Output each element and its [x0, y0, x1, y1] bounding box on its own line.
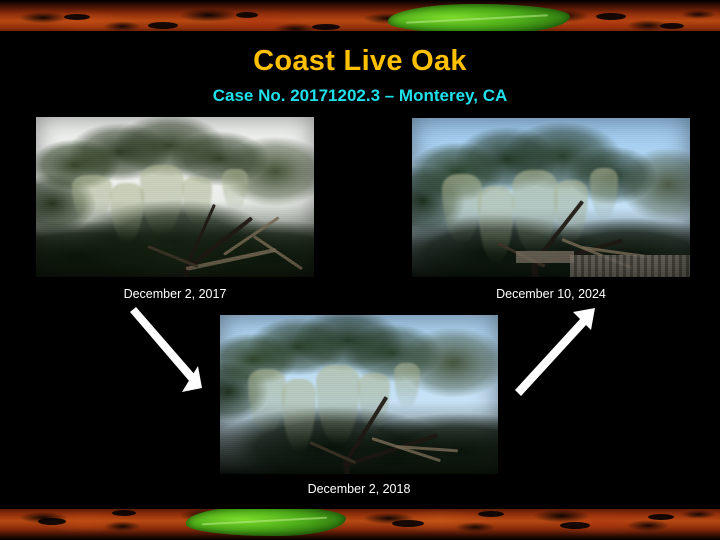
photo-december-2-2018[interactable] [220, 315, 498, 474]
photo-caption-2018: December 2, 2018 [220, 481, 498, 497]
arrow-2017-to-2018-icon [120, 300, 216, 400]
top-leaf-border [0, 0, 720, 40]
leaf-speck [112, 510, 136, 516]
border-fade [0, 31, 720, 40]
leaf-speck [64, 14, 90, 20]
rooftop [516, 251, 574, 263]
leaf-speck [236, 12, 258, 18]
leaf-speck [312, 24, 340, 30]
green-oak-leaf-icon [388, 4, 570, 34]
photo-caption-2024: December 10, 2024 [412, 286, 690, 302]
leaf-speck [478, 511, 504, 517]
photo-caption-2017: December 2, 2017 [36, 286, 314, 302]
leaf-speck [660, 23, 684, 29]
leaf-speck [148, 22, 178, 29]
slide-canvas: Coast Live Oak Case No. 20171202.3 – Mon… [0, 0, 720, 540]
leaf-speck [648, 514, 674, 520]
leaf-speck [560, 522, 590, 529]
green-oak-leaf-icon [186, 506, 346, 536]
leaf-speck [392, 520, 424, 527]
border-fade [0, 500, 720, 509]
leaf-speck [596, 13, 626, 20]
photo-december-10-2024[interactable] [412, 118, 690, 277]
page-title: Coast Live Oak [0, 44, 720, 78]
arrow-2018-to-2024-icon [505, 300, 601, 400]
fence-line [570, 255, 690, 277]
page-subtitle: Case No. 20171202.3 – Monterey, CA [0, 86, 720, 106]
photo-december-2-2017[interactable] [36, 117, 314, 277]
bottom-leaf-border [0, 500, 720, 540]
leaf-speck [38, 518, 66, 525]
